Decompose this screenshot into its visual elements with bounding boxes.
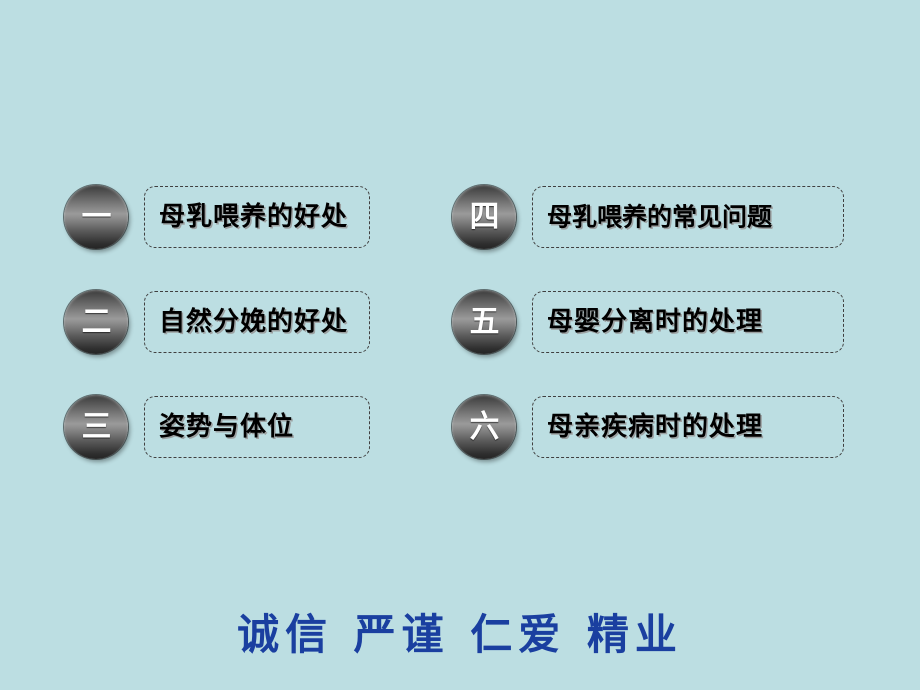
agenda-label-6: 母亲疾病时的处理 — [547, 414, 763, 440]
agenda-number-3: 三 — [81, 412, 111, 443]
agenda-list: 一 母乳喂养的好处 二 自然分娩的好处 三 姿势与体位 — [0, 168, 920, 468]
agenda-number-4: 四 — [469, 202, 499, 233]
agenda-item-2[interactable]: 二 自然分娩的好处 — [64, 287, 370, 357]
agenda-number-badge-2: 二 — [64, 290, 128, 354]
agenda-item-5[interactable]: 五 母婴分离时的处理 — [452, 287, 844, 357]
agenda-number-badge-1: 一 — [64, 185, 128, 249]
agenda-item-6[interactable]: 六 母亲疾病时的处理 — [452, 392, 844, 462]
agenda-label-1: 母乳喂养的好处 — [159, 204, 348, 230]
agenda-number-badge-6: 六 — [452, 395, 516, 459]
agenda-label-5: 母婴分离时的处理 — [547, 309, 763, 335]
agenda-label-3: 姿势与体位 — [159, 414, 294, 440]
agenda-number-badge-5: 五 — [452, 290, 516, 354]
agenda-label-box-5[interactable]: 母婴分离时的处理 — [532, 291, 844, 353]
agenda-number-5: 五 — [469, 307, 499, 338]
slide-canvas: 一 母乳喂养的好处 二 自然分娩的好处 三 姿势与体位 — [0, 0, 920, 690]
agenda-item-1[interactable]: 一 母乳喂养的好处 — [64, 182, 370, 252]
agenda-label-box-2[interactable]: 自然分娩的好处 — [144, 291, 370, 353]
agenda-label-box-6[interactable]: 母亲疾病时的处理 — [532, 396, 844, 458]
agenda-label-box-4[interactable]: 母乳喂养的常见问题 — [532, 186, 844, 248]
agenda-label-4: 母乳喂养的常见问题 — [547, 205, 772, 230]
agenda-label-box-3[interactable]: 姿势与体位 — [144, 396, 370, 458]
agenda-number-1: 一 — [81, 202, 111, 233]
agenda-item-4[interactable]: 四 母乳喂养的常见问题 — [452, 182, 844, 252]
footer-slogan: 诚信 严谨 仁爱 精业 — [0, 614, 920, 656]
agenda-item-3[interactable]: 三 姿势与体位 — [64, 392, 370, 462]
agenda-number-6: 六 — [469, 412, 499, 443]
agenda-number-2: 二 — [81, 307, 111, 338]
agenda-number-badge-4: 四 — [452, 185, 516, 249]
agenda-label-box-1[interactable]: 母乳喂养的好处 — [144, 186, 370, 248]
agenda-number-badge-3: 三 — [64, 395, 128, 459]
agenda-label-2: 自然分娩的好处 — [159, 309, 348, 335]
